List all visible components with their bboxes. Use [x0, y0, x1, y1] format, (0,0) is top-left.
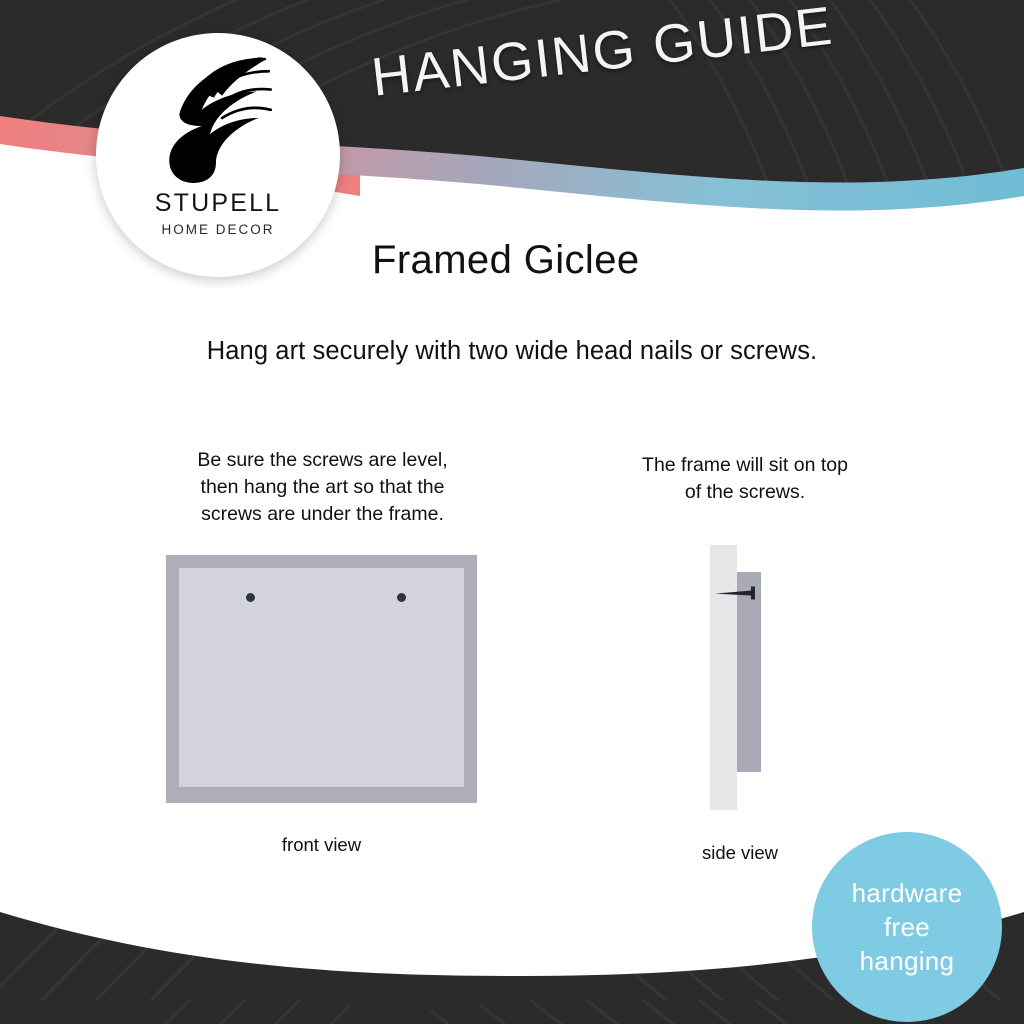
screw-dot-left [246, 593, 255, 602]
lead-instruction: Hang art securely with two wide head nai… [0, 337, 1024, 366]
front-caption-line-2: then hang the art so that the [150, 474, 495, 501]
brand-name: STUPELL [155, 191, 282, 216]
side-view-label: side view [660, 842, 820, 864]
front-view-frame-diagram [166, 555, 477, 803]
side-caption-line-2: of the screws. [600, 479, 890, 506]
front-caption-line-1: Be sure the screws are level, [150, 447, 495, 474]
side-view-frame [737, 572, 761, 772]
front-view-label: front view [166, 834, 477, 856]
hanging-guide-page: STUPELL HOME DECOR HANGING GUIDE Framed … [0, 0, 1024, 1024]
hardware-free-hanging-badge: hardware free hanging [812, 832, 1002, 1022]
page-title: HANGING GUIDE [368, 0, 892, 109]
front-caption-line-3: screws are under the frame. [150, 501, 495, 528]
side-view-diagram [700, 545, 790, 815]
side-caption-line-1: The frame will sit on top [600, 452, 890, 479]
nail-side-icon [713, 586, 761, 600]
front-view-caption: Be sure the screws are level, then hang … [150, 447, 495, 528]
front-view-mat [179, 568, 464, 787]
badge-line-1: hardware [852, 876, 963, 910]
screw-dot-right [397, 593, 406, 602]
side-view-caption: The frame will sit on top of the screws. [600, 452, 890, 506]
side-view-wall [710, 545, 737, 810]
badge-line-3: hanging [860, 944, 955, 978]
brand-tagline: HOME DECOR [161, 223, 274, 237]
stupell-s-swoosh-icon [156, 55, 280, 187]
badge-line-2: free [884, 910, 930, 944]
product-name: Framed Giclee [372, 238, 640, 283]
brand-logo-badge: STUPELL HOME DECOR [96, 33, 340, 277]
